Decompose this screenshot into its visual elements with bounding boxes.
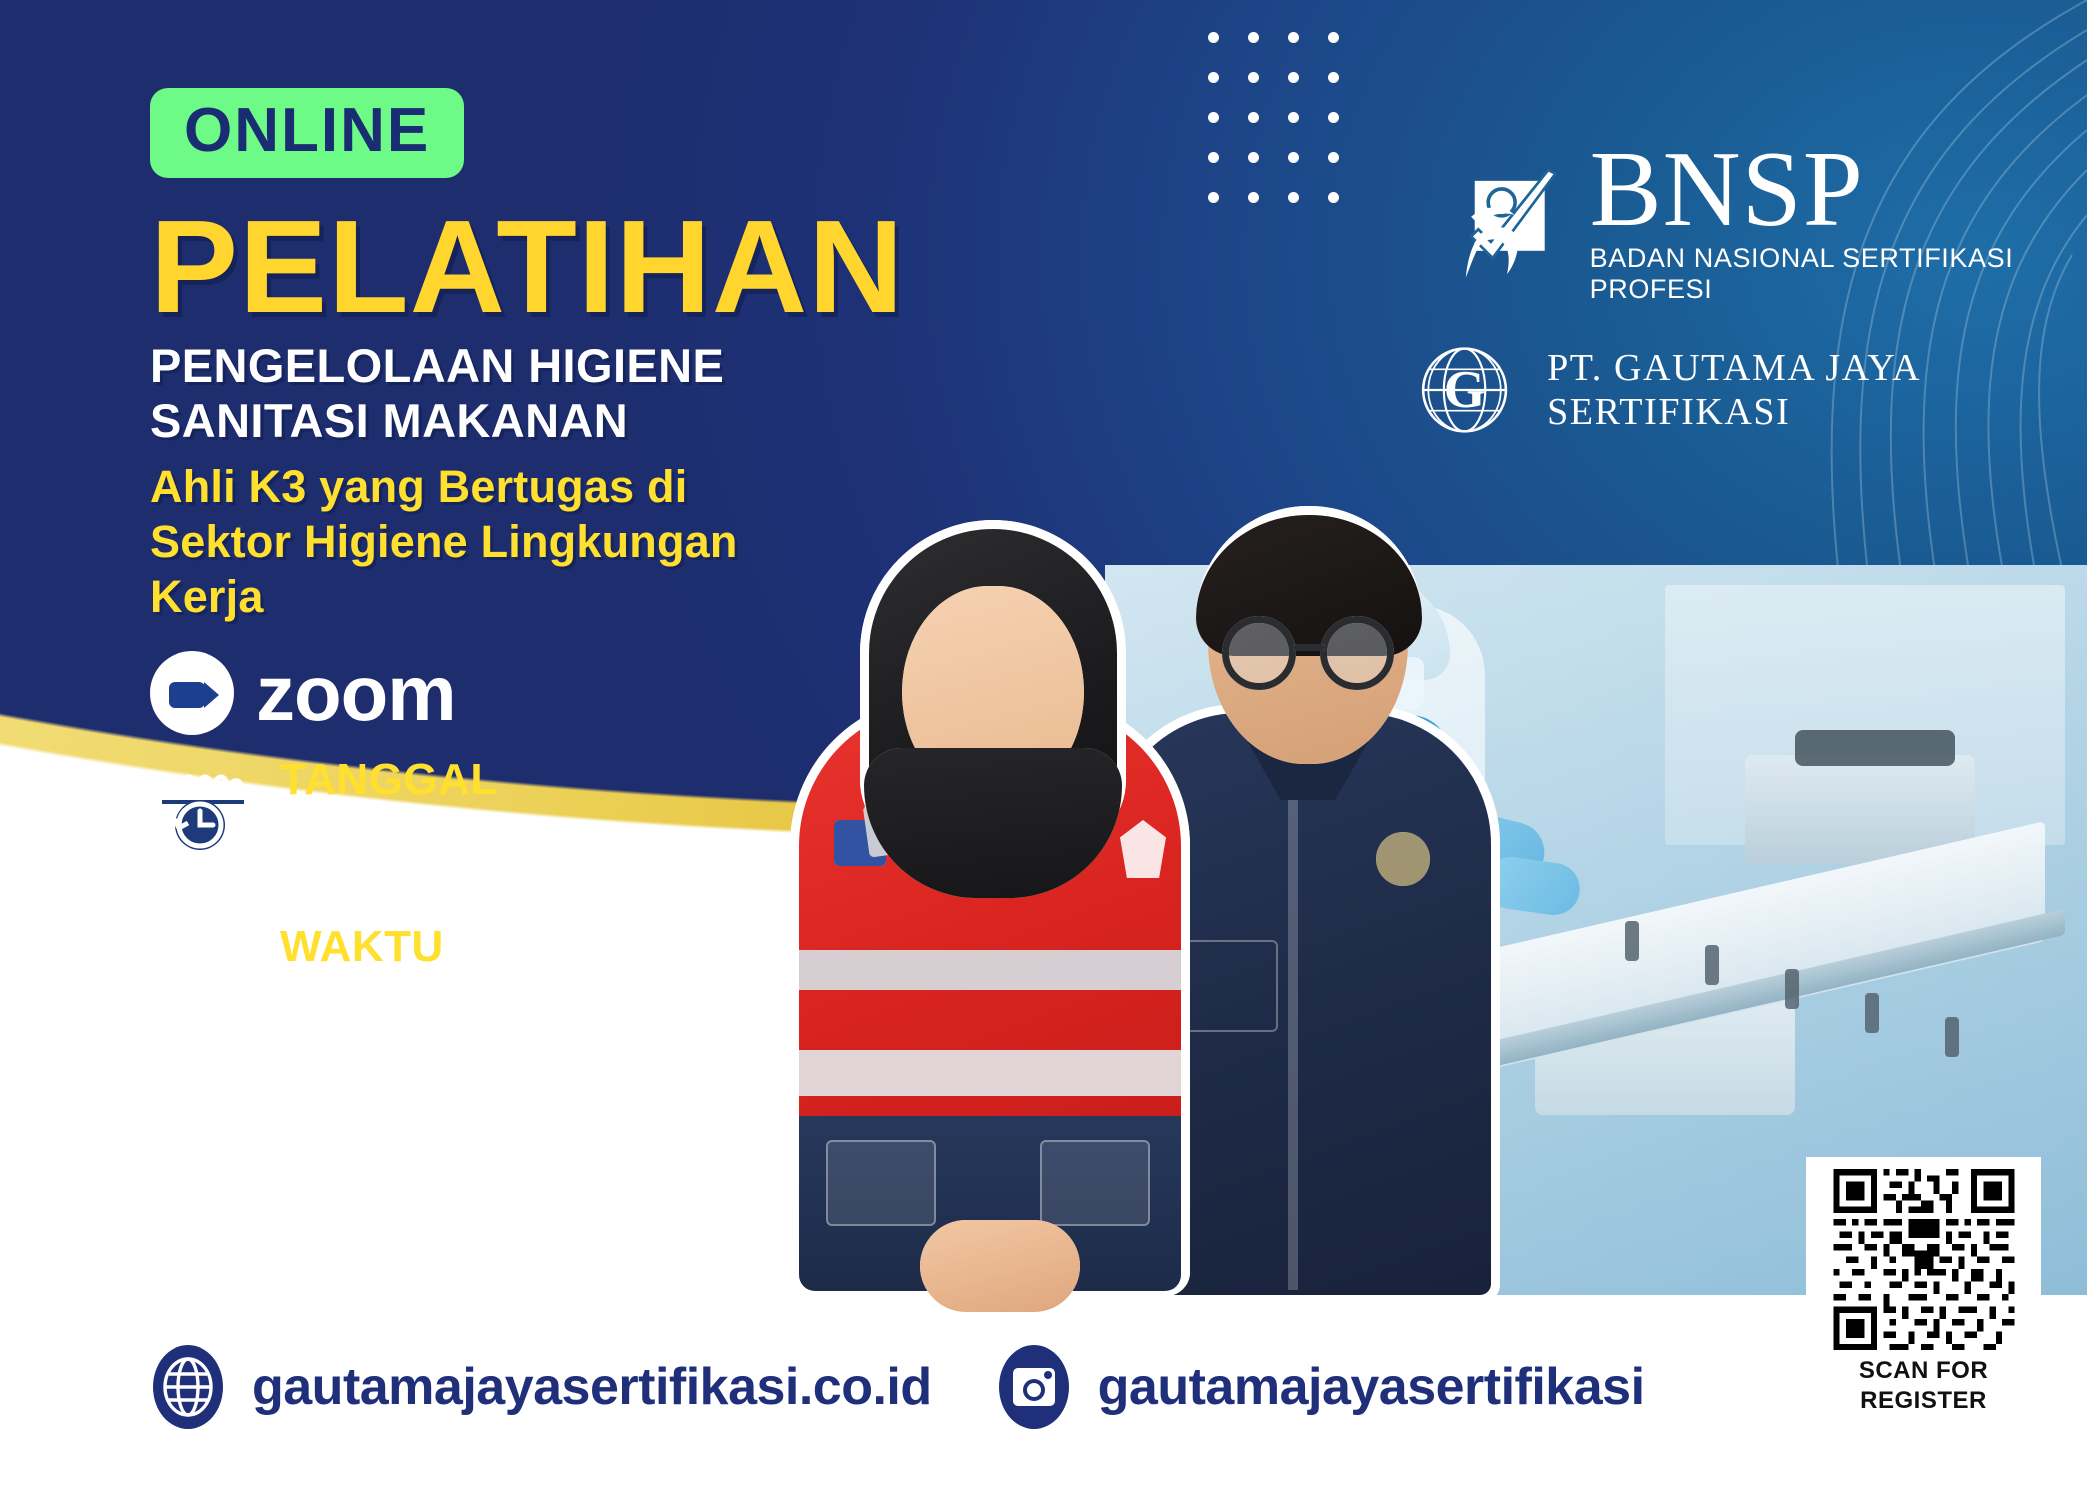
zoom-wordmark: zoom: [256, 654, 456, 732]
footer-instagram[interactable]: gautamajayasertifikasi: [996, 1342, 1645, 1432]
qr-caption-line-1: SCAN FOR: [1859, 1356, 1988, 1385]
qr-code: [1831, 1169, 2017, 1350]
schedule-date-value-1: 8-10: [280, 807, 522, 853]
schedule-date-value-2: Oktober 2025: [280, 857, 522, 903]
schedule-date-label: TANGGAL: [280, 757, 522, 803]
company-logo: G PT. GAUTAMA JAYA SERTIFIKASI: [1418, 336, 2087, 444]
footer-website-text: gautamajayasertifikasi.co.id: [252, 1357, 932, 1417]
platform-zoom: zoom: [150, 651, 950, 735]
footer-website[interactable]: gautamajayasertifikasi.co.id: [150, 1342, 932, 1432]
schedule-time-value-1: 09.00 - Selesai: [280, 975, 547, 1021]
online-badge: ONLINE: [150, 88, 464, 178]
subtitle: PENGELOLAAN HIGIENE SANITASI MAKANAN: [150, 339, 950, 448]
description-line-1: Ahli K3 yang Bertugas di: [150, 460, 950, 515]
description-line-3: Kerja: [150, 570, 950, 625]
main-content: ONLINE PELATIHAN PENGELOLAAN HIGIENE SAN…: [150, 88, 950, 1026]
calendar-clock-icon: [150, 757, 254, 859]
description-line-2: Sektor Higiene Lingkungan: [150, 515, 950, 570]
subtitle-line-1: PENGELOLAAN HIGIENE: [150, 339, 950, 394]
bnsp-logo: BNSP BADAN NASIONAL SERTIFIKASI PROFESI: [1455, 140, 2087, 305]
dot-grid-decoration: [1208, 32, 1346, 210]
bnsp-person-checkmark-icon: [1455, 158, 1572, 288]
bnsp-full-name: BADAN NASIONAL SERTIFIKASI PROFESI: [1590, 243, 2087, 305]
footer-bar: gautamajayasertifikasi.co.id gautamajaya…: [0, 1287, 2087, 1487]
qr-caption-line-2: REGISTER: [1859, 1386, 1988, 1415]
subtitle-line-2: SANITASI MAKANAN: [150, 394, 950, 449]
company-name: PT. GAUTAMA JAYA SERTIFIKASI: [1547, 346, 2087, 434]
instagram-icon: [996, 1342, 1072, 1432]
schedule-time: WAKTU 09.00 - Selesai: [150, 924, 950, 1026]
zoom-video-camera-icon: [150, 651, 234, 735]
globe-icon: [150, 1342, 226, 1432]
globe-gjs-monogram-icon: G: [1418, 336, 1511, 444]
bnsp-acronym: BNSP: [1590, 140, 2087, 239]
poster-canvas: BNSP BADAN NASIONAL SERTIFIKASI PROFESI …: [0, 0, 2087, 1487]
schedule-date: TANGGAL 8-10 Oktober 2025: [150, 757, 950, 902]
alarm-clock-icon: [150, 924, 254, 1026]
footer-instagram-text: gautamajayasertifikasi: [1098, 1357, 1645, 1417]
description: Ahli K3 yang Bertugas di Sektor Higiene …: [150, 460, 950, 625]
svg-text:G: G: [1444, 359, 1486, 419]
qr-register-card[interactable]: SCAN FOR REGISTER: [1806, 1157, 2041, 1415]
schedule-time-label: WAKTU: [280, 924, 547, 970]
page-title: PELATIHAN: [150, 202, 950, 331]
